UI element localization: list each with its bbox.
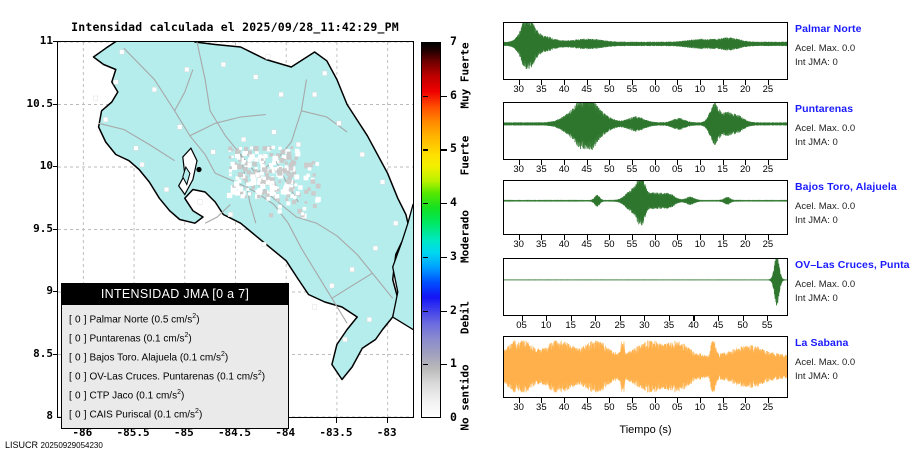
lon-tick-label: -83	[377, 426, 397, 439]
footer-agency: LISUCR	[5, 440, 38, 450]
colorbar-category-label: Muy Fuerte	[459, 42, 472, 108]
waveform-time-tick-label: 45	[581, 239, 592, 250]
waveform-time-tick-label: 05	[672, 239, 683, 250]
waveform-station-name: Bajos Toro, Alajuela	[795, 181, 910, 193]
waveform-plot[interactable]	[503, 180, 788, 235]
waveform-time-axis: 303540455055000510152025	[503, 235, 788, 255]
waveform-time-tick-label: 50	[604, 239, 615, 250]
waveform-plot[interactable]	[503, 258, 788, 316]
colorbar-tick-label: 3	[450, 249, 457, 263]
colorbar-tick	[441, 96, 447, 97]
waveform-time-tick-label: 20	[740, 239, 751, 250]
colorbar-tick-label: 2	[450, 303, 457, 317]
waveform-station-info: OV–Las Cruces, PuntarAcel. Max. 0.0Int J…	[795, 259, 910, 306]
colorbar-category-label: Fuerte	[459, 136, 472, 176]
waveform-max-acceleration: Acel. Max. 0.0	[795, 278, 910, 292]
colorbar-tick-label: 7	[450, 34, 457, 48]
jma-station-name: CTP Jaco (0.1 cm/s	[87, 390, 177, 401]
waveform-time-tick-label: 05	[516, 320, 527, 331]
waveform-time-tick-label: 10	[541, 320, 552, 331]
colorbar-tick-inner	[423, 203, 428, 204]
colorbar-category-label: Moderado	[459, 210, 472, 263]
page-title: Intensidad calculada el 2025/09/28_11:42…	[70, 20, 400, 34]
lat-tick-label: 8	[7, 409, 53, 422]
waveform-station-name: Palmar Norte	[795, 23, 910, 35]
lat-tick-label: 9.5	[7, 222, 53, 235]
jma-index: [ 0 ]	[69, 409, 87, 420]
jma-legend-item: [ 0 ] OV-Las Cruces. Puntarenas (0.1 cm/…	[69, 366, 288, 385]
waveform-time-tick-label: 25	[763, 84, 774, 95]
waveform-time-tick-label: 35	[536, 402, 547, 413]
waveform-station-info: Palmar NorteAcel. Max. 0.0Int JMA: 0	[795, 23, 910, 70]
waveform-station-name: La Sabana	[795, 337, 910, 349]
colorbar-tick-inner	[423, 257, 428, 258]
waveform-plot[interactable]	[503, 22, 788, 80]
colorbar-category-label: No sentido	[459, 365, 472, 431]
waveform-time-tick-label: 45	[581, 164, 592, 175]
waveform-time-tick-label: 10	[695, 84, 706, 95]
lat-tick-label: 9	[7, 284, 53, 297]
waveform-time-tick-label: 00	[649, 84, 660, 95]
lon-tick	[387, 418, 388, 423]
lat-tick-label: 10	[7, 159, 53, 172]
waveform-time-tick-label: 35	[536, 84, 547, 95]
waveform-time-axis: 303540455055000510152025	[503, 160, 788, 180]
waveform-time-tick-label: 55	[627, 164, 638, 175]
colorbar-tick-label: 0	[450, 410, 457, 424]
waveform-time-tick-label: 50	[737, 320, 748, 331]
waveform-time-tick-label: 55	[627, 402, 638, 413]
waveform-time-tick-label: 25	[614, 320, 625, 331]
waveform-xaxis-label: Tiempo (s)	[503, 424, 788, 436]
jma-paren-close: )	[225, 352, 228, 363]
waveform-time-tick-label: 40	[559, 402, 570, 413]
jma-station-name: Puntarenas (0.1 cm/s	[87, 333, 185, 344]
waveform-time-tick-label: 45	[713, 320, 724, 331]
waveform-jma-intensity: Int JMA: 0	[795, 214, 910, 228]
waveform-time-tick-label: 05	[672, 84, 683, 95]
waveform-time-tick-label: 10	[695, 402, 706, 413]
waveform-time-tick-label: 50	[604, 402, 615, 413]
colorbar-tick-label: 1	[450, 356, 457, 370]
waveform-time-tick-label: 55	[627, 239, 638, 250]
waveform-time-tick-label: 20	[740, 164, 751, 175]
waveform-time-tick-label: 00	[649, 402, 660, 413]
waveform-station-info: La SabanaAcel. Max. 0.0Int JMA: 0	[795, 337, 910, 384]
colorbar-tick	[441, 149, 447, 150]
waveform-time-tick-label: 15	[717, 402, 728, 413]
colorbar-tick-inner	[423, 149, 428, 150]
waveform-time-tick-label: 10	[695, 239, 706, 250]
waveform-time-tick-label: 25	[763, 164, 774, 175]
waveform-time-tick-label: 40	[688, 320, 699, 331]
jma-station-name: CAIS Puriscal (0.1 cm/s	[87, 409, 195, 420]
jma-station-name: Palmar Norte (0.5 cm/s	[87, 314, 193, 325]
waveform-time-tick-label: 30	[513, 164, 524, 175]
jma-paren-close: )	[188, 333, 191, 344]
waveform-time-tick-label: 05	[672, 164, 683, 175]
waveform-time-tick-label: 15	[717, 164, 728, 175]
waveform-jma-intensity: Int JMA: 0	[795, 292, 910, 306]
jma-station-name: OV-Las Cruces. Puntarenas (0.1 cm/s	[87, 371, 258, 382]
waveform-time-tick-label: 30	[513, 239, 524, 250]
colorbar-tick-label: 4	[450, 195, 457, 209]
waveform-trace	[504, 259, 787, 314]
jma-index: [ 0 ]	[69, 352, 87, 363]
waveform-time-tick-label: 00	[649, 239, 660, 250]
waveform-plot[interactable]	[503, 336, 788, 398]
lon-tick	[336, 418, 337, 423]
lat-tick-label: 8.5	[7, 347, 53, 360]
waveform-plot[interactable]	[503, 102, 788, 160]
jma-legend-item: [ 0 ] Palmar Norte (0.5 cm/s2)	[69, 309, 288, 328]
waveform-time-tick-label: 20	[590, 320, 601, 331]
jma-legend-item: [ 0 ] Puntarenas (0.1 cm/s2)	[69, 328, 288, 347]
waveform-trace	[504, 337, 787, 396]
waveform-time-tick-label: 50	[604, 164, 615, 175]
colorbar-tick	[441, 257, 447, 258]
waveform-time-axis: 0510152025303540455055	[503, 316, 788, 336]
waveform-trace	[504, 103, 787, 158]
waveform-time-tick-label: 15	[717, 239, 728, 250]
waveform-time-tick-label: 20	[740, 402, 751, 413]
lat-tick-label: 11	[7, 34, 53, 47]
waveform-time-tick-label: 30	[639, 320, 650, 331]
waveform-station-name: Puntarenas	[795, 103, 910, 115]
waveform-time-tick-label: 25	[763, 402, 774, 413]
waveform-max-acceleration: Acel. Max. 0.0	[795, 200, 910, 214]
waveform-time-tick-label: 40	[559, 84, 570, 95]
jma-station-name: Bajos Toro. Alajuela (0.1 cm/s	[87, 352, 221, 363]
waveform-trace	[504, 181, 787, 233]
waveform-time-tick-label: 30	[513, 84, 524, 95]
waveform-time-tick-label: 55	[627, 84, 638, 95]
waveform-time-tick-label: 45	[581, 84, 592, 95]
jma-paren-close: )	[262, 371, 265, 382]
colorbar-tick	[441, 364, 447, 365]
colorbar-category-label: Debil	[459, 301, 472, 334]
jma-intensity-legend: INTENSIDAD JMA [0 a 7] [ 0 ] Palmar Nort…	[61, 283, 289, 429]
colorbar-tick	[441, 203, 447, 204]
colorbar-tick	[441, 311, 447, 312]
footer-code: 20250929054230	[41, 441, 103, 450]
waveform-time-axis: 303540455055000510152025	[503, 398, 788, 418]
waveform-time-tick-label: 00	[649, 164, 660, 175]
waveform-station-name: OV–Las Cruces, Puntar	[795, 259, 910, 271]
jma-legend-item: [ 0 ] Bajos Toro. Alajuela (0.1 cm/s2)	[69, 347, 288, 366]
intensity-colorbar: 01234567No sentidoDebilModeradoFuerteMuy…	[421, 42, 491, 418]
waveform-max-acceleration: Acel. Max. 0.0	[795, 356, 910, 370]
jma-paren-close: )	[196, 314, 199, 325]
waveform-time-tick-label: 30	[513, 402, 524, 413]
colorbar-tick-inner	[423, 96, 428, 97]
jma-index: [ 0 ]	[69, 314, 87, 325]
waveform-max-acceleration: Acel. Max. 0.0	[795, 122, 910, 136]
waveform-jma-intensity: Int JMA: 0	[795, 136, 910, 150]
waveform-trace	[504, 23, 787, 78]
waveform-time-tick-label: 35	[536, 239, 547, 250]
jma-index: [ 0 ]	[69, 371, 87, 382]
jma-legend-item: [ 0 ] CAIS Puriscal (0.1 cm/s2)	[69, 404, 288, 423]
waveform-station-info: Bajos Toro, AlajuelaAcel. Max. 0.0Int JM…	[795, 181, 910, 228]
footer-credit: LISUCR 20250929054230	[5, 440, 103, 450]
waveform-time-tick-label: 35	[664, 320, 675, 331]
colorbar-tick-label: 6	[450, 88, 457, 102]
waveform-time-tick-label: 15	[565, 320, 576, 331]
waveform-time-tick-label: 15	[717, 84, 728, 95]
colorbar-tick-inner	[423, 364, 428, 365]
waveform-time-tick-label: 05	[672, 402, 683, 413]
jma-index: [ 0 ]	[69, 333, 87, 344]
jma-legend-rows: [ 0 ] Palmar Norte (0.5 cm/s2)[ 0 ] Punt…	[62, 305, 288, 428]
map-latitude-axis: 88.599.51010.511	[0, 41, 53, 418]
jma-index: [ 0 ]	[69, 390, 87, 401]
waveform-max-acceleration: Acel. Max. 0.0	[795, 42, 910, 56]
lon-tick-label: -83.5	[319, 426, 352, 439]
waveform-time-tick-label: 40	[559, 164, 570, 175]
waveform-time-tick-label: 20	[740, 84, 751, 95]
jma-paren-close: )	[181, 390, 184, 401]
waveform-time-tick-label: 35	[536, 164, 547, 175]
jma-legend-title: INTENSIDAD JMA [0 a 7]	[62, 284, 288, 305]
waveform-time-tick-label: 55	[762, 320, 773, 331]
waveform-jma-intensity: Int JMA: 0	[795, 370, 910, 384]
waveform-jma-intensity: Int JMA: 0	[795, 56, 910, 70]
waveform-time-axis: 303540455055000510152025	[503, 80, 788, 100]
waveform-time-tick-label: 50	[604, 84, 615, 95]
waveform-station-info: PuntarenasAcel. Max. 0.0Int JMA: 0	[795, 103, 910, 150]
waveform-time-tick-label: 40	[559, 239, 570, 250]
jma-paren-close: )	[199, 409, 202, 420]
colorbar-gradient	[421, 42, 441, 418]
waveform-time-tick-label: 45	[581, 402, 592, 413]
waveform-time-tick-label: 25	[763, 239, 774, 250]
colorbar-tick-label: 5	[450, 141, 457, 155]
waveform-time-tick-label: 10	[695, 164, 706, 175]
lat-tick-label: 10.5	[7, 97, 53, 110]
jma-legend-item: [ 0 ] CTP Jaco (0.1 cm/s2)	[69, 385, 288, 404]
colorbar-tick-inner	[423, 311, 428, 312]
